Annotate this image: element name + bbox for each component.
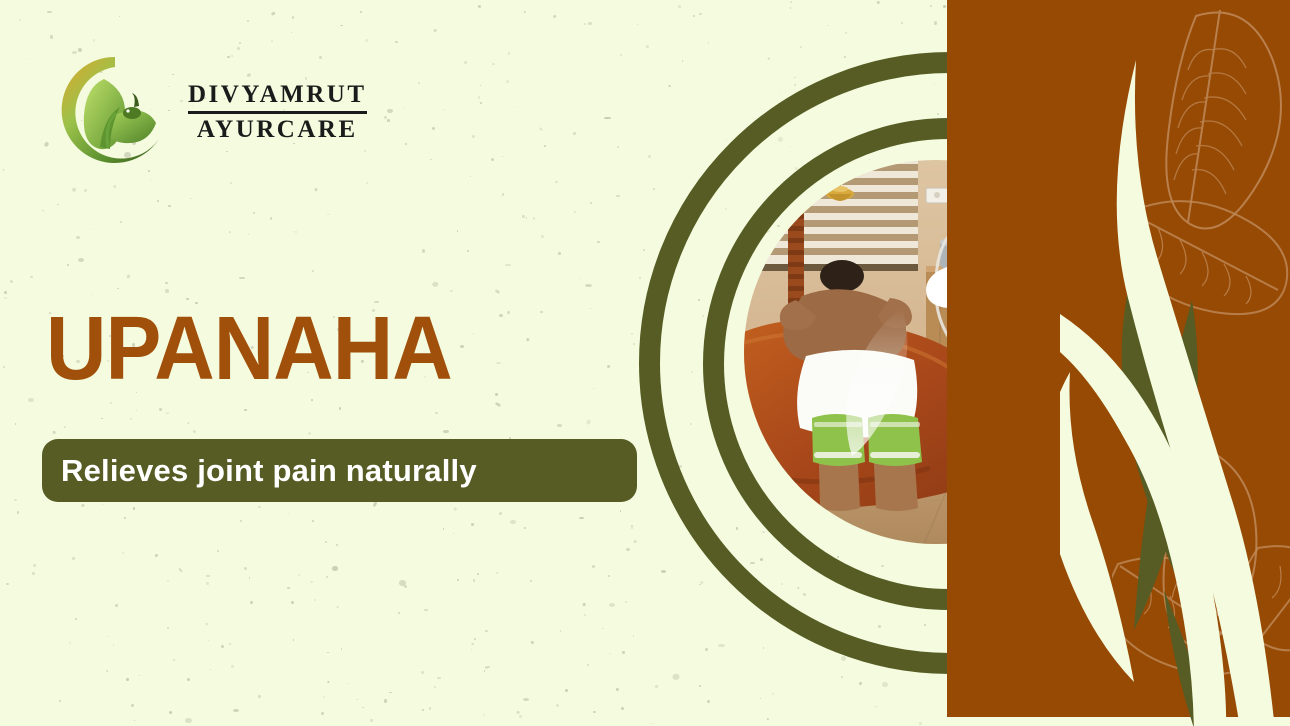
tagline-text: Relieves joint pain naturally	[42, 453, 477, 489]
brand-logo[interactable]: DIVYAMRUT AYURCARE	[56, 51, 367, 169]
tagline-banner: Relieves joint pain naturally	[42, 439, 637, 502]
brand-divider	[188, 111, 367, 114]
panel-foot-strip	[947, 717, 1290, 726]
panel-overlay-mask	[947, 0, 1290, 726]
brand-name-line1: DIVYAMRUT	[188, 81, 367, 108]
brand-name-line2: AYURCARE	[197, 116, 358, 143]
promotional-banner: DIVYAMRUT AYURCARE UPANAHA Relieves join…	[0, 0, 1290, 726]
page-title: UPANAHA	[46, 307, 452, 393]
brand-logo-text: DIVYAMRUT AYURCARE	[188, 81, 367, 143]
leaf-circle-emblem-icon	[56, 51, 174, 169]
